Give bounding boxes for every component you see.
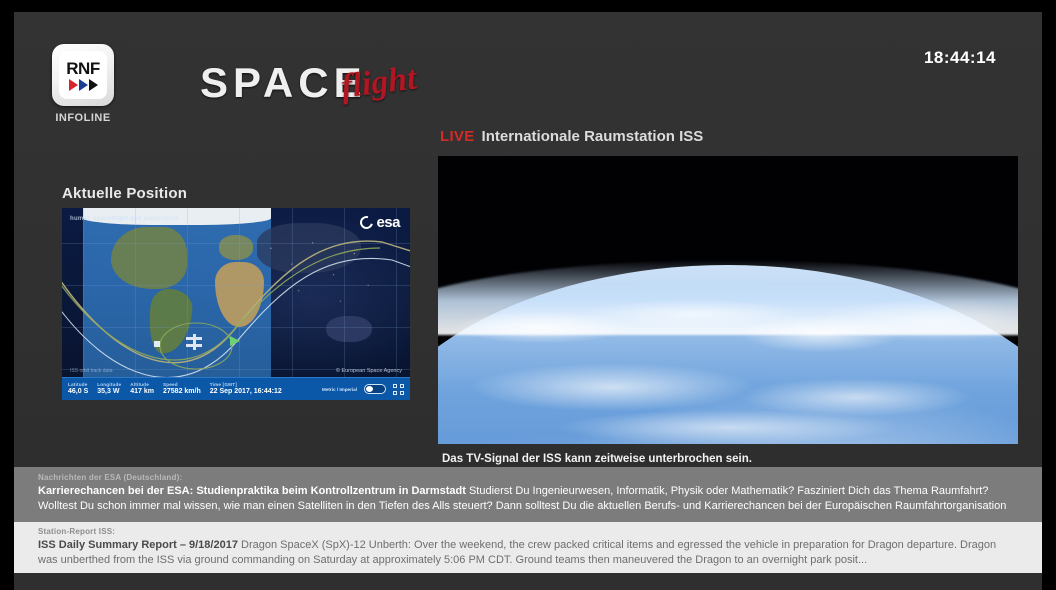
brand-flight-text: flight [339,60,419,107]
rnf-logo: RNF [52,44,114,106]
show-brand: SPACE flight [200,54,416,104]
ticker-iss-heading: Station-Report ISS: [38,527,1018,536]
arrow-blue-icon [79,79,88,91]
telemetry-longitude-value: 35,3 W [97,388,121,395]
broadcast-screen: RNF INFOLINE SPACE flight 18:44:14 Aktue… [0,0,1056,590]
telemetry-controls: Metric / Imperial [322,384,404,395]
map-credit: © European Space Agency [336,368,402,374]
rnf-logo-inner: RNF [59,51,107,99]
fullscreen-icon[interactable] [393,384,404,395]
arrow-black-icon [89,79,98,91]
telemetry-altitude: Altitude 417 km [130,383,154,395]
map-credit-left: ISS orbit track data [70,368,113,374]
units-toggle[interactable] [364,384,386,394]
telemetry-latitude: Latitude 46,0 S [68,383,88,395]
telemetry-speed: Speed 27582 km/h [163,383,201,395]
video-title: Internationale Raumstation ISS [482,128,704,145]
ticker-esa-news: Nachrichten der ESA (Deutschland): Karri… [14,467,1042,522]
ticker-esa-lead: Karrierechancen bei der ESA: Studienprak… [38,485,466,497]
ticker-station-report: Station-Report ISS: ISS Daily Summary Re… [14,522,1042,573]
live-badge: LIVE [440,128,475,145]
map-watermark: human spaceflight and exploration [70,216,179,222]
esa-logo-text: esa [376,214,400,231]
telemetry-time: Time [GMT] 22 Sep 2017, 16:44:12 [210,383,282,395]
ticker-esa-heading: Nachrichten der ESA (Deutschland): [38,473,1018,482]
video-cloud-layer [438,277,1018,444]
content-area: RNF INFOLINE SPACE flight 18:44:14 Aktue… [14,12,1042,467]
telemetry-latitude-value: 46,0 S [68,388,88,395]
esa-logo: esa [360,214,400,231]
telemetry-altitude-value: 417 km [130,388,154,395]
units-toggle-label: Metric / Imperial [322,387,357,392]
video-header: LIVE Internationale Raumstation ISS [440,128,703,145]
telemetry-bar: Latitude 46,0 S Longitude 35,3 W Altitud… [62,377,410,400]
esa-mark-icon [358,214,376,232]
video-caption: Das TV-Signal der ISS kann zeitweise unt… [442,453,752,465]
footer-strip [14,573,1042,590]
ticker-iss-body: ISS Daily Summary Report – 9/18/2017 Dra… [38,538,1018,568]
units-toggle-knob[interactable] [366,386,373,392]
arrow-red-icon [69,79,78,91]
ticker-iss-lead: ISS Daily Summary Report – 9/18/2017 [38,539,238,551]
telemetry-longitude: Longitude 35,3 W [97,383,121,395]
infoline-label: INFOLINE [52,112,114,124]
rnf-arrows-icon [69,79,98,91]
map-background: human spaceflight and exploration ISS or… [62,208,410,400]
clock: 18:44:14 [924,48,996,68]
telemetry-speed-value: 27582 km/h [163,388,201,395]
iss-live-video[interactable] [438,156,1018,444]
iss-position-map[interactable]: human spaceflight and exploration ISS or… [62,208,410,400]
map-panel-title: Aktuelle Position [62,185,187,202]
rnf-logo-text: RNF [66,60,99,77]
telemetry-time-value: 22 Sep 2017, 16:44:12 [210,388,282,395]
